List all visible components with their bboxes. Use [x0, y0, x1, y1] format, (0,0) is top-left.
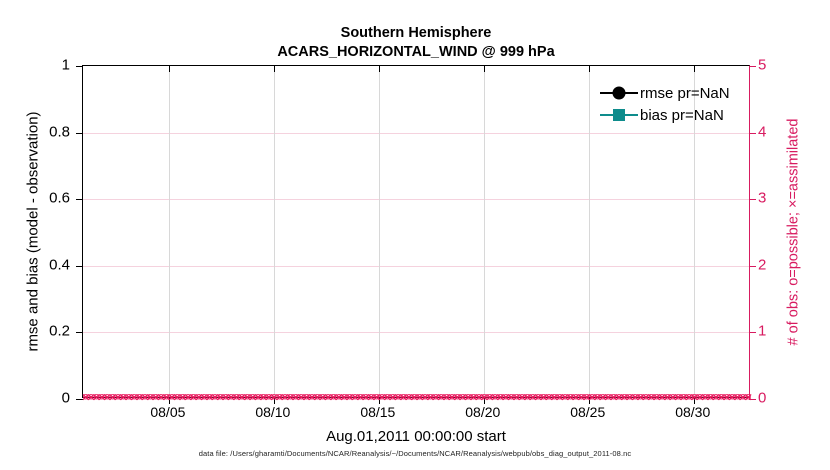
obs-possible-marker: o — [433, 392, 439, 403]
y-tick-left — [76, 133, 83, 134]
obs-possible-marker: o — [347, 392, 353, 403]
obs-assimilated-marker: × — [507, 392, 516, 403]
obs-possible-marker: o — [93, 392, 99, 403]
obs-possible-marker: o — [158, 392, 164, 403]
obs-possible-marker: o — [681, 392, 687, 403]
obs-assimilated-marker: × — [248, 392, 257, 403]
obs-assimilated-marker: × — [426, 392, 435, 403]
legend-item-bias: bias pr=NaN — [600, 104, 730, 126]
y-axis-left-title-text: rmse and bias (model - observation) — [25, 111, 42, 351]
obs-possible-marker: o — [460, 392, 466, 403]
x-tick-top — [169, 66, 170, 72]
obs-possible-marker: o — [675, 392, 681, 403]
obs-assimilated-marker: × — [157, 392, 166, 403]
y-tick-label-right: 5 — [758, 57, 798, 74]
y-tick-left — [76, 266, 83, 267]
obs-possible-marker: o — [137, 392, 143, 403]
obs-assimilated-marker: × — [674, 392, 683, 403]
obs-assimilated-marker: × — [458, 392, 467, 403]
chart-title: Southern Hemisphere ACARS_HORIZONTAL_WIN… — [82, 24, 750, 62]
obs-assimilated-marker: × — [501, 392, 510, 403]
obs-assimilated-marker: × — [544, 392, 553, 403]
legend-label-rmse: rmse pr=NaN — [638, 85, 730, 102]
obs-possible-marker: o — [524, 392, 530, 403]
y-tick-right — [749, 266, 756, 267]
obs-possible-marker: o — [314, 392, 320, 403]
obs-possible-marker: o — [266, 392, 272, 403]
obs-assimilated-marker: × — [253, 392, 262, 403]
gridline-vertical — [169, 66, 170, 397]
obs-possible-marker: o — [217, 392, 223, 403]
obs-possible-marker: o — [422, 392, 428, 403]
obs-possible-marker: o — [196, 392, 202, 403]
obs-possible-marker: o — [406, 392, 412, 403]
gridline-horizontal — [83, 133, 749, 134]
x-tick — [589, 397, 590, 404]
obs-possible-marker: o — [686, 392, 692, 403]
obs-assimilated-marker: × — [464, 392, 473, 403]
y-tick-left — [76, 199, 83, 200]
obs-assimilated-marker: × — [259, 392, 268, 403]
obs-possible-marker: o — [573, 392, 579, 403]
x-tick-label: 08/15 — [338, 404, 418, 420]
obs-assimilated-marker: × — [631, 392, 640, 403]
obs-assimilated-marker: × — [539, 392, 548, 403]
obs-assimilated-marker: × — [334, 392, 343, 403]
obs-assimilated-marker: × — [183, 392, 192, 403]
obs-possible-marker: o — [492, 392, 498, 403]
obs-assimilated-marker: × — [388, 392, 397, 403]
obs-possible-marker: o — [567, 392, 573, 403]
obs-assimilated-marker: × — [210, 392, 219, 403]
y-axis-right-title: # of obs: o=possible; ×=assimilated — [782, 65, 804, 398]
obs-possible-marker: o — [600, 392, 606, 403]
obs-possible-marker: o — [131, 392, 137, 403]
gridline-vertical — [379, 66, 380, 397]
obs-assimilated-marker: × — [453, 392, 462, 403]
bias-marker-icon — [600, 106, 638, 124]
obs-possible-marker: o — [562, 392, 568, 403]
obs-assimilated-marker: × — [415, 392, 424, 403]
obs-possible-marker: o — [702, 392, 708, 403]
obs-possible-marker: o — [357, 392, 363, 403]
obs-possible-marker: o — [664, 392, 670, 403]
obs-assimilated-marker: × — [733, 392, 742, 403]
obs-assimilated-marker: × — [135, 392, 144, 403]
obs-possible-marker: o — [282, 392, 288, 403]
obs-assimilated-marker: × — [178, 392, 187, 403]
obs-possible-marker: o — [541, 392, 547, 403]
obs-assimilated-marker: × — [711, 392, 720, 403]
obs-assimilated-marker: × — [275, 392, 284, 403]
obs-possible-marker: o — [444, 392, 450, 403]
obs-assimilated-marker: × — [738, 392, 747, 403]
obs-assimilated-marker: × — [496, 392, 505, 403]
obs-possible-marker: o — [718, 392, 724, 403]
y-tick-label-left: 0.2 — [10, 323, 70, 340]
obs-possible-marker: o — [244, 392, 250, 403]
obs-possible-marker: o — [551, 392, 557, 403]
obs-possible-marker: o — [546, 392, 552, 403]
obs-assimilated-marker: × — [81, 392, 90, 403]
obs-assimilated-marker: × — [307, 392, 316, 403]
obs-possible-marker: o — [298, 392, 304, 403]
obs-possible-marker: o — [287, 392, 293, 403]
obs-assimilated-marker: × — [701, 392, 710, 403]
obs-possible-marker: o — [325, 392, 331, 403]
obs-assimilated-marker: × — [200, 392, 209, 403]
obs-possible-marker: o — [508, 392, 514, 403]
obs-assimilated-marker: × — [173, 392, 182, 403]
x-tick-label: 08/30 — [653, 404, 733, 420]
obs-assimilated-marker: × — [744, 392, 753, 403]
obs-possible-marker: o — [708, 392, 714, 403]
obs-assimilated-marker: × — [324, 392, 333, 403]
obs-possible-marker: o — [174, 392, 180, 403]
obs-assimilated-marker: × — [491, 392, 500, 403]
obs-possible-marker: o — [729, 392, 735, 403]
obs-possible-marker: o — [104, 392, 110, 403]
x-tick — [169, 397, 170, 404]
obs-possible-marker: o — [713, 392, 719, 403]
obs-assimilated-marker: × — [92, 392, 101, 403]
obs-assimilated-marker: × — [647, 392, 656, 403]
obs-possible-marker: o — [228, 392, 234, 403]
obs-assimilated-marker: × — [361, 392, 370, 403]
obs-possible-marker: o — [185, 392, 191, 403]
obs-assimilated-marker: × — [227, 392, 236, 403]
x-tick-top — [694, 66, 695, 72]
obs-assimilated-marker: × — [264, 392, 273, 403]
obs-assimilated-marker: × — [302, 392, 311, 403]
obs-possible-marker: o — [212, 392, 218, 403]
obs-assimilated-marker: × — [679, 392, 688, 403]
obs-assimilated-marker: × — [124, 392, 133, 403]
obs-assimilated-marker: × — [534, 392, 543, 403]
obs-possible-marker: o — [417, 392, 423, 403]
obs-assimilated-marker: × — [636, 392, 645, 403]
obs-possible-marker: o — [400, 392, 406, 403]
obs-possible-marker: o — [309, 392, 315, 403]
x-tick-label: 08/25 — [548, 404, 628, 420]
obs-assimilated-marker: × — [318, 392, 327, 403]
obs-assimilated-marker: × — [420, 392, 429, 403]
obs-possible-marker: o — [578, 392, 584, 403]
obs-assimilated-marker: × — [658, 392, 667, 403]
gridline-vertical — [484, 66, 485, 397]
obs-assimilated-marker: × — [130, 392, 139, 403]
y-tick-left — [76, 399, 83, 400]
chart-title-line1: Southern Hemisphere — [82, 24, 750, 43]
obs-possible-marker: o — [535, 392, 541, 403]
obs-assimilated-marker: × — [561, 392, 570, 403]
obs-assimilated-marker: × — [399, 392, 408, 403]
y-tick-label-right: 1 — [758, 323, 798, 340]
legend-label-bias: bias pr=NaN — [638, 107, 724, 124]
obs-assimilated-marker: × — [205, 392, 214, 403]
obs-possible-marker: o — [465, 392, 471, 403]
obs-assimilated-marker: × — [108, 392, 117, 403]
y-tick-left — [76, 66, 83, 67]
obs-assimilated-marker: × — [350, 392, 359, 403]
x-tick — [694, 397, 695, 404]
obs-possible-marker: o — [438, 392, 444, 403]
obs-assimilated-marker: × — [582, 392, 591, 403]
obs-possible-marker: o — [190, 392, 196, 403]
obs-assimilated-marker: × — [194, 392, 203, 403]
x-tick — [274, 397, 275, 404]
obs-assimilated-marker: × — [356, 392, 365, 403]
obs-assimilated-marker: × — [383, 392, 392, 403]
obs-assimilated-marker: × — [512, 392, 521, 403]
gridline-horizontal — [83, 332, 749, 333]
obs-assimilated-marker: × — [577, 392, 586, 403]
x-tick-top — [484, 66, 485, 72]
obs-assimilated-marker: × — [146, 392, 155, 403]
y-tick-label-left: 1 — [10, 57, 70, 74]
obs-assimilated-marker: × — [329, 392, 338, 403]
y-tick-right — [749, 199, 756, 200]
obs-assimilated-marker: × — [221, 392, 230, 403]
obs-assimilated-marker: × — [469, 392, 478, 403]
obs-possible-marker: o — [621, 392, 627, 403]
obs-assimilated-marker: × — [706, 392, 715, 403]
obs-possible-marker: o — [471, 392, 477, 403]
y-tick-label-right: 2 — [758, 256, 798, 273]
obs-possible-marker: o — [519, 392, 525, 403]
x-tick-label: 08/20 — [443, 404, 523, 420]
obs-assimilated-marker: × — [620, 392, 629, 403]
obs-possible-marker: o — [260, 392, 266, 403]
obs-possible-marker: o — [330, 392, 336, 403]
obs-possible-marker: o — [233, 392, 239, 403]
obs-possible-marker: o — [643, 392, 649, 403]
obs-assimilated-marker: × — [523, 392, 532, 403]
y-tick-right — [749, 399, 756, 400]
obs-assimilated-marker: × — [663, 392, 672, 403]
obs-assimilated-marker: × — [119, 392, 128, 403]
obs-possible-marker: o — [120, 392, 126, 403]
obs-possible-marker: o — [207, 392, 213, 403]
x-tick-top — [274, 66, 275, 72]
obs-possible-marker: o — [115, 392, 121, 403]
obs-possible-marker: o — [632, 392, 638, 403]
y-tick-right — [749, 66, 756, 67]
obs-possible-marker: o — [277, 392, 283, 403]
obs-possible-marker: o — [497, 392, 503, 403]
obs-assimilated-marker: × — [609, 392, 618, 403]
x-axis-title: Aug.01,2011 00:00:00 start — [82, 428, 750, 445]
obs-assimilated-marker: × — [684, 392, 693, 403]
obs-assimilated-marker: × — [367, 392, 376, 403]
obs-possible-marker: o — [627, 392, 633, 403]
x-tick — [484, 397, 485, 404]
obs-assimilated-marker: × — [485, 392, 494, 403]
obs-possible-marker: o — [83, 392, 89, 403]
obs-assimilated-marker: × — [614, 392, 623, 403]
obs-assimilated-marker: × — [140, 392, 149, 403]
y-tick-label-right: 3 — [758, 190, 798, 207]
obs-possible-marker: o — [147, 392, 153, 403]
obs-possible-marker: o — [611, 392, 617, 403]
obs-assimilated-marker: × — [237, 392, 246, 403]
obs-possible-marker: o — [126, 392, 132, 403]
obs-assimilated-marker: × — [431, 392, 440, 403]
obs-possible-marker: o — [99, 392, 105, 403]
chart-title-line2: ACARS_HORIZONTAL_WIND @ 999 hPa — [82, 43, 750, 62]
obs-assimilated-marker: × — [189, 392, 198, 403]
x-tick-label: 08/10 — [233, 404, 313, 420]
obs-assimilated-marker: × — [280, 392, 289, 403]
obs-possible-marker: o — [390, 392, 396, 403]
obs-possible-marker: o — [648, 392, 654, 403]
obs-assimilated-marker: × — [216, 392, 225, 403]
obs-assimilated-marker: × — [566, 392, 575, 403]
obs-possible-marker: o — [654, 392, 660, 403]
y-tick-label-left: 0.8 — [10, 123, 70, 140]
y-axis-left-title: rmse and bias (model - observation) — [22, 65, 44, 398]
obs-possible-marker: o — [734, 392, 740, 403]
obs-possible-marker: o — [88, 392, 94, 403]
obs-assimilated-marker: × — [313, 392, 322, 403]
obs-assimilated-marker: × — [474, 392, 483, 403]
obs-assimilated-marker: × — [340, 392, 349, 403]
y-tick-label-right: 4 — [758, 123, 798, 140]
obs-assimilated-marker: × — [571, 392, 580, 403]
obs-assimilated-marker: × — [243, 392, 252, 403]
obs-assimilated-marker: × — [447, 392, 456, 403]
obs-assimilated-marker: × — [437, 392, 446, 403]
obs-possible-marker: o — [724, 392, 730, 403]
obs-assimilated-marker: × — [442, 392, 451, 403]
obs-possible-marker: o — [449, 392, 455, 403]
obs-possible-marker: o — [304, 392, 310, 403]
y-tick-left — [76, 332, 83, 333]
data-file-caption: data file: /Users/gharamti/Documents/NCA… — [0, 449, 830, 458]
obs-possible-marker: o — [454, 392, 460, 403]
obs-assimilated-marker: × — [717, 392, 726, 403]
obs-possible-marker: o — [180, 392, 186, 403]
obs-assimilated-marker: × — [598, 392, 607, 403]
obs-possible-marker: o — [341, 392, 347, 403]
x-tick — [379, 397, 380, 404]
obs-possible-marker: o — [255, 392, 261, 403]
obs-assimilated-marker: × — [86, 392, 95, 403]
gridline-vertical — [589, 66, 590, 397]
obs-possible-marker: o — [142, 392, 148, 403]
obs-assimilated-marker: × — [625, 392, 634, 403]
obs-possible-marker: o — [697, 392, 703, 403]
obs-possible-marker: o — [487, 392, 493, 403]
obs-assimilated-marker: × — [291, 392, 300, 403]
obs-assimilated-marker: × — [97, 392, 106, 403]
obs-assimilated-marker: × — [728, 392, 737, 403]
gridline-horizontal — [83, 266, 749, 267]
obs-possible-marker: o — [594, 392, 600, 403]
obs-assimilated-marker: × — [550, 392, 559, 403]
obs-possible-marker: o — [605, 392, 611, 403]
y-axis-right-title-text: # of obs: o=possible; ×=assimilated — [785, 118, 801, 345]
obs-assimilated-marker: × — [722, 392, 731, 403]
obs-possible-marker: o — [670, 392, 676, 403]
obs-possible-marker: o — [476, 392, 482, 403]
obs-possible-marker: o — [503, 392, 509, 403]
obs-possible-marker: o — [411, 392, 417, 403]
obs-possible-marker: o — [616, 392, 622, 403]
obs-possible-marker: o — [368, 392, 374, 403]
obs-assimilated-marker: × — [517, 392, 526, 403]
obs-assimilated-marker: × — [404, 392, 413, 403]
obs-assimilated-marker: × — [641, 392, 650, 403]
rmse-marker-icon — [600, 84, 638, 102]
obs-assimilated-marker: × — [103, 392, 112, 403]
obs-possible-marker: o — [530, 392, 536, 403]
obs-possible-marker: o — [293, 392, 299, 403]
obs-assimilated-marker: × — [652, 392, 661, 403]
obs-possible-marker: o — [320, 392, 326, 403]
obs-possible-marker: o — [239, 392, 245, 403]
obs-assimilated-marker: × — [113, 392, 122, 403]
y-tick-label-left: 0 — [10, 390, 70, 407]
chart-legend: rmse pr=NaN bias pr=NaN — [596, 80, 734, 128]
obs-possible-marker: o — [427, 392, 433, 403]
obs-possible-marker: o — [201, 392, 207, 403]
obs-possible-marker: o — [659, 392, 665, 403]
obs-possible-marker: o — [352, 392, 358, 403]
obs-assimilated-marker: × — [593, 392, 602, 403]
obs-possible-marker: o — [514, 392, 520, 403]
obs-assimilated-marker: × — [410, 392, 419, 403]
obs-assimilated-marker: × — [555, 392, 564, 403]
chart-figure: Southern Hemisphere ACARS_HORIZONTAL_WIN… — [0, 0, 830, 470]
obs-possible-marker: o — [110, 392, 116, 403]
y-tick-right — [749, 133, 756, 134]
obs-possible-marker: o — [336, 392, 342, 403]
obs-assimilated-marker: × — [232, 392, 241, 403]
obs-possible-marker: o — [250, 392, 256, 403]
obs-possible-marker: o — [740, 392, 746, 403]
gridline-vertical — [274, 66, 275, 397]
obs-possible-marker: o — [384, 392, 390, 403]
y-tick-label-left: 0.6 — [10, 190, 70, 207]
x-tick-top — [589, 66, 590, 72]
obs-assimilated-marker: × — [604, 392, 613, 403]
legend-item-rmse: rmse pr=NaN — [600, 82, 730, 104]
obs-assimilated-marker: × — [345, 392, 354, 403]
obs-possible-marker: o — [223, 392, 229, 403]
y-tick-label-left: 0.4 — [10, 256, 70, 273]
obs-assimilated-marker: × — [286, 392, 295, 403]
obs-possible-marker: o — [363, 392, 369, 403]
obs-assimilated-marker: × — [297, 392, 306, 403]
obs-possible-marker: o — [589, 392, 595, 403]
obs-possible-marker: o — [557, 392, 563, 403]
obs-possible-marker: o — [638, 392, 644, 403]
obs-assimilated-marker: × — [394, 392, 403, 403]
obs-possible-marker: o — [395, 392, 401, 403]
x-tick-label: 08/05 — [128, 404, 208, 420]
gridline-horizontal — [83, 199, 749, 200]
obs-assimilated-marker: × — [668, 392, 677, 403]
y-tick-label-right: 0 — [758, 390, 798, 407]
obs-assimilated-marker: × — [528, 392, 537, 403]
obs-assimilated-marker: × — [151, 392, 160, 403]
obs-assimilated-marker: × — [695, 392, 704, 403]
obs-possible-marker: o — [153, 392, 159, 403]
y-tick-right — [749, 332, 756, 333]
x-tick-top — [379, 66, 380, 72]
obs-possible-marker: o — [745, 392, 751, 403]
